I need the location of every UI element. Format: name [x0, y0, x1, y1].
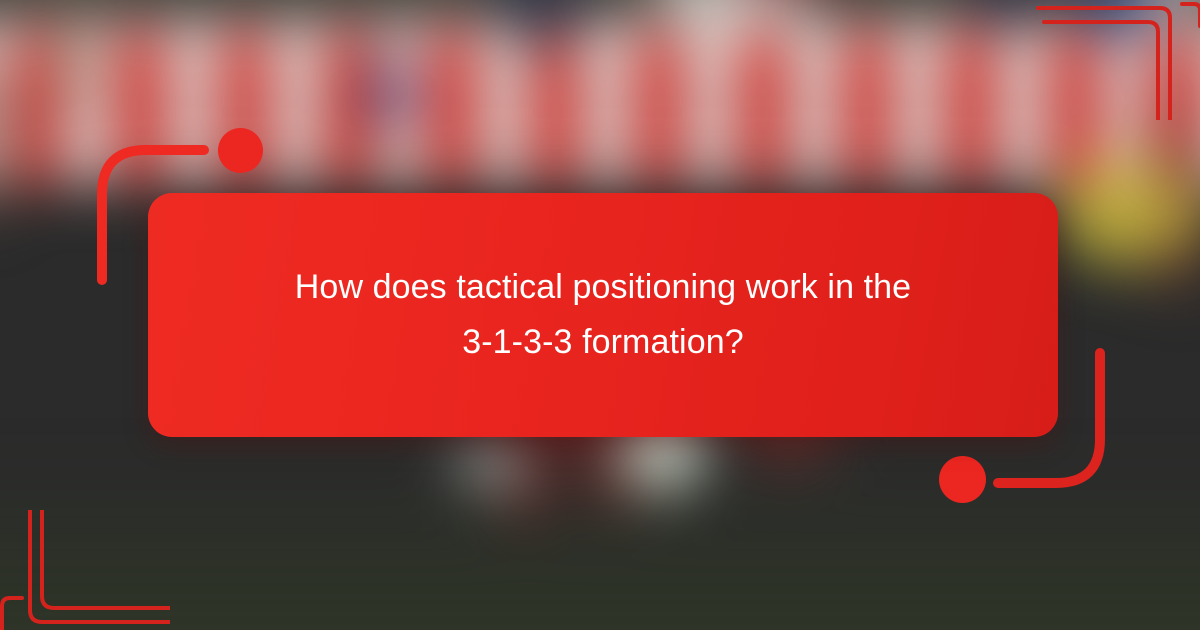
accent-dot-top-left: [218, 128, 263, 173]
pitch-shadow: [0, 450, 1200, 630]
crowd-blob: [368, 61, 417, 126]
question-card: How does tactical positioning work in th…: [148, 193, 1058, 437]
page-title-line-1: How does tactical positioning work in th…: [295, 268, 911, 306]
background-advertising-banner: [0, 31, 1200, 184]
page-title: How does tactical positioning work in th…: [295, 260, 911, 370]
crowd-blob: [38, 0, 103, 115]
pitchside-board-blob: [1075, 180, 1200, 245]
page-title-line-2: 3-1-3-3 formation?: [462, 323, 744, 361]
share-card-canvas: How does tactical positioning work in th…: [0, 0, 1200, 630]
accent-dot-bottom-right: [939, 456, 986, 503]
